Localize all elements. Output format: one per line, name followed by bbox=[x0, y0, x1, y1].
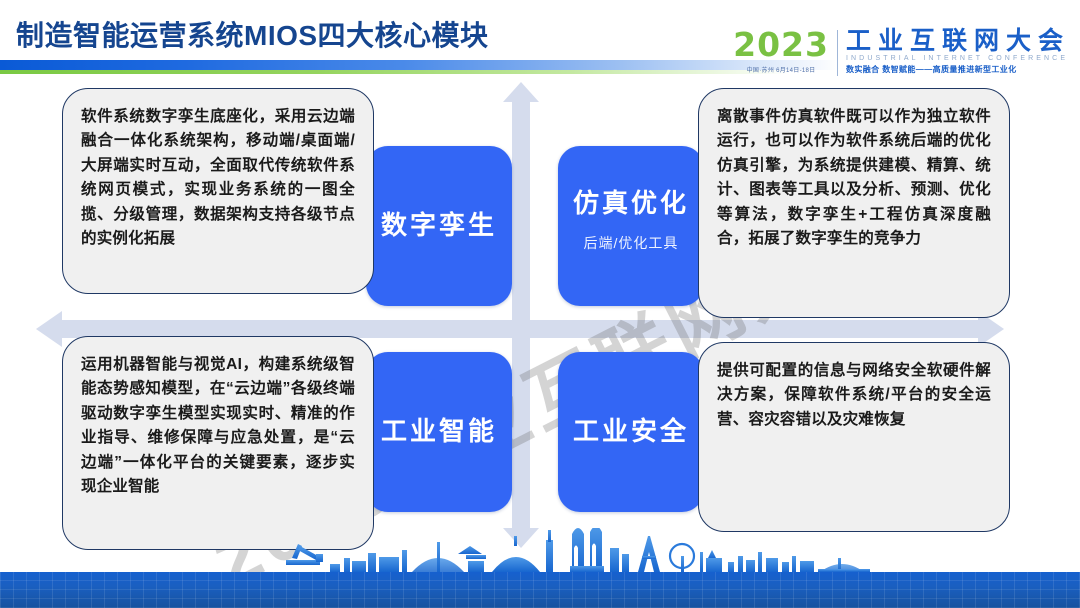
arrow-up-icon bbox=[503, 82, 539, 102]
logo-divider-icon bbox=[837, 30, 838, 76]
description-box-industrial-security: 提供可配置的信息与网络安全软硬件解决方案，保障软件系统/平台的安全运营、容灾容错… bbox=[698, 342, 1010, 532]
module-card-industrial-intelligence[interactable]: 工业智能 bbox=[366, 352, 512, 512]
quadrant-board: 2023工业互联网大会 数字孪生 仿真优化 后端/优化工具 工业智能 工业安全 … bbox=[0, 80, 1080, 550]
description-text: 软件系统数字孪生底座化，采用云边端融合一体化系统架构，移动端/桌面端/大屏端实时… bbox=[81, 105, 355, 252]
logo-date: 中国·苏州 6月14日-18日 bbox=[747, 65, 816, 74]
description-text: 运用机器智能与视觉AI，构建系统级智能态势感知模型，在“云边端”各级终端驱动数字… bbox=[81, 353, 355, 500]
city-skyline-icon bbox=[0, 528, 1080, 574]
logo-name-en: INDUSTRIAL INTERNET CONFERENCE bbox=[846, 54, 1070, 65]
description-box-industrial-intelligence: 运用机器智能与视觉AI，构建系统级智能态势感知模型，在“云边端”各级终端驱动数字… bbox=[62, 336, 374, 550]
footer-band bbox=[0, 572, 1080, 608]
logo-year-block: 2023 中国·苏州 6月14日-18日 bbox=[733, 28, 837, 74]
arrow-left-icon bbox=[36, 311, 62, 347]
page-title: 制造智能运营系统MIOS四大核心模块 bbox=[16, 14, 489, 54]
slide-footer bbox=[0, 530, 1080, 608]
module-title: 仿真优化 bbox=[573, 188, 689, 219]
module-title: 数字孪生 bbox=[381, 210, 497, 241]
divider-blue-bar bbox=[0, 60, 840, 70]
description-box-simulation-optimization: 离散事件仿真软件既可以作为独立软件运行，也可以作为软件系统后端的优化仿真引擎，为… bbox=[698, 88, 1010, 318]
logo-slogan: 数实融合 数智赋能——高质量推进新型工业化 bbox=[846, 65, 1070, 75]
module-title: 工业安全 bbox=[573, 416, 689, 447]
logo-year: 2023 bbox=[733, 28, 829, 61]
module-card-simulation-optimization[interactable]: 仿真优化 后端/优化工具 bbox=[558, 146, 704, 306]
slide-root: 制造智能运营系统MIOS四大核心模块 2023 中国·苏州 6月14日-18日 … bbox=[0, 0, 1080, 608]
module-card-digital-twin[interactable]: 数字孪生 bbox=[366, 146, 512, 306]
description-box-digital-twin: 软件系统数字孪生底座化，采用云边端融合一体化系统架构，移动端/桌面端/大屏端实时… bbox=[62, 88, 374, 294]
logo-name-block: 工业互联网大会 INDUSTRIAL INTERNET CONFERENCE 数… bbox=[846, 28, 1070, 75]
description-text: 离散事件仿真软件既可以作为独立软件运行，也可以作为软件系统后端的优化仿真引擎，为… bbox=[717, 105, 991, 252]
logo-name-cn: 工业互联网大会 bbox=[846, 28, 1070, 54]
module-subtitle: 后端/优化工具 bbox=[584, 233, 679, 253]
module-card-industrial-security[interactable]: 工业安全 bbox=[558, 352, 704, 512]
vertical-axis-arrow bbox=[512, 98, 530, 532]
module-title: 工业智能 bbox=[381, 416, 497, 447]
description-text: 提供可配置的信息与网络安全软硬件解决方案，保障软件系统/平台的安全运营、容灾容错… bbox=[717, 359, 991, 432]
divider-green-bar bbox=[0, 70, 790, 74]
conference-logo: 2023 中国·苏州 6月14日-18日 工业互联网大会 INDUSTRIAL … bbox=[733, 28, 1070, 78]
